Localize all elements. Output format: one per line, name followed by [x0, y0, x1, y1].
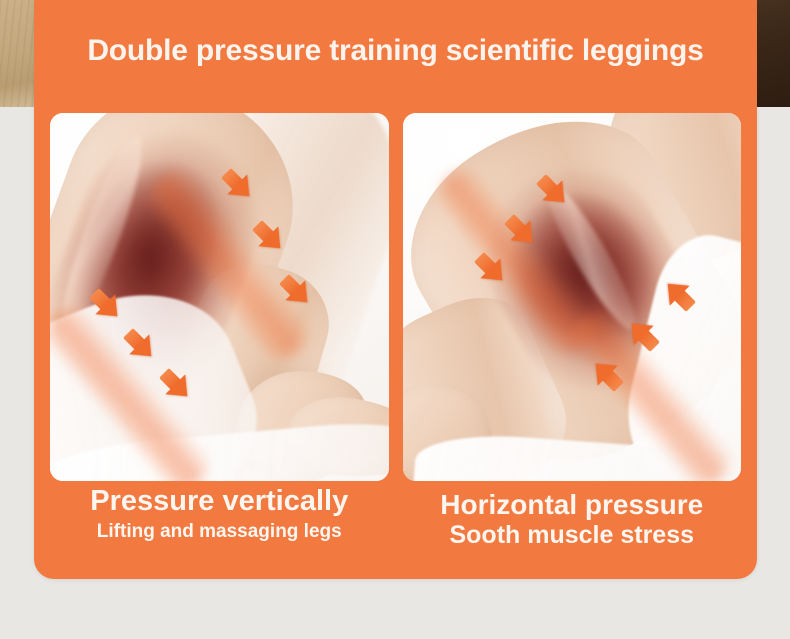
- page-title: Double pressure training scientific legg…: [34, 34, 757, 67]
- left-panel-scene: [50, 113, 389, 481]
- right-caption-sub: Sooth muscle stress: [403, 521, 742, 550]
- promo-card: Double pressure training scientific legg…: [34, 0, 757, 579]
- right-caption: Horizontal pressure Sooth muscle stress: [403, 486, 742, 562]
- left-panel[interactable]: [50, 113, 389, 481]
- right-panel[interactable]: [403, 113, 742, 481]
- right-panel-scene: [403, 113, 742, 481]
- promo-image-root: Double pressure training scientific legg…: [0, 0, 790, 639]
- panel-row: [50, 113, 741, 481]
- caption-row: Pressure vertically Lifting and massagin…: [50, 486, 741, 562]
- right-caption-main: Horizontal pressure: [403, 490, 742, 519]
- left-caption-sub: Lifting and massaging legs: [50, 521, 389, 543]
- left-caption-main: Pressure vertically: [50, 486, 389, 516]
- left-caption: Pressure vertically Lifting and massagin…: [50, 486, 389, 562]
